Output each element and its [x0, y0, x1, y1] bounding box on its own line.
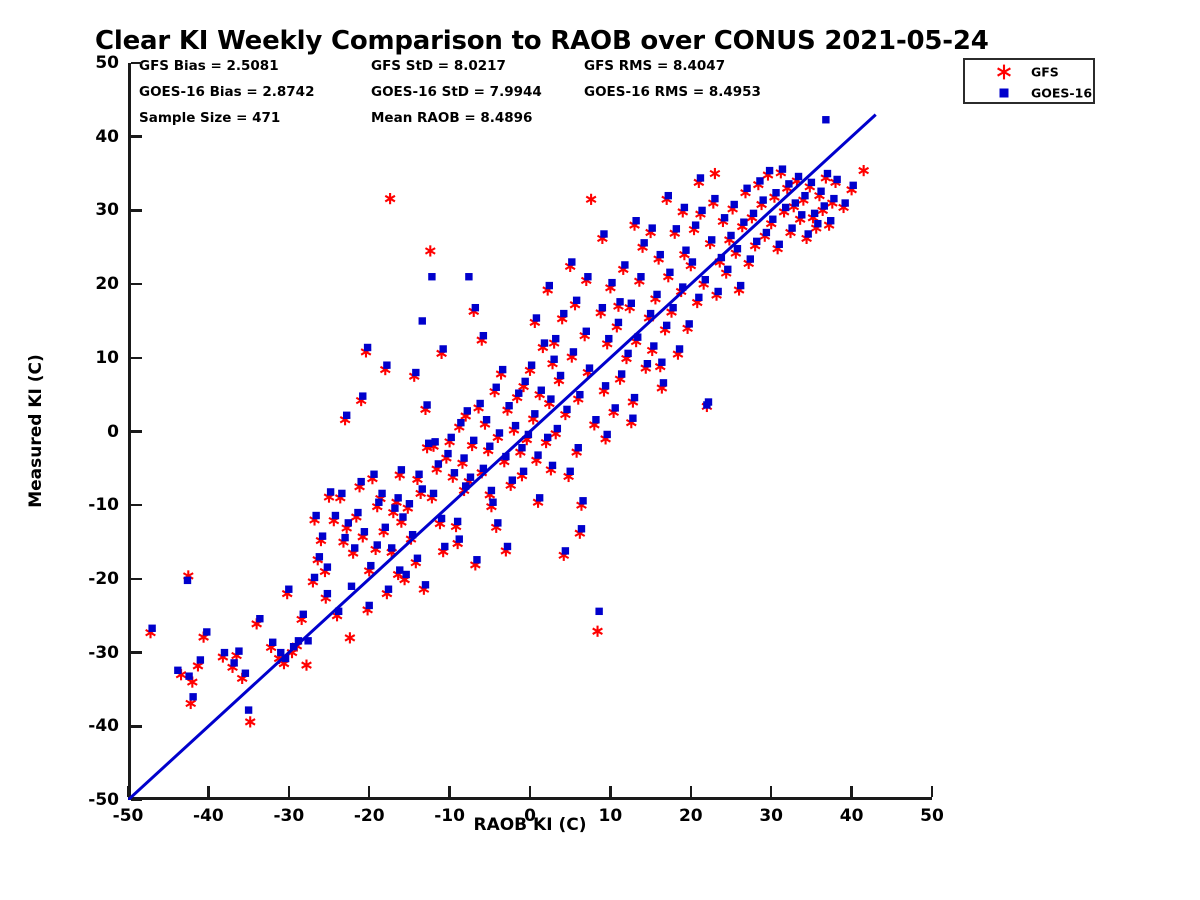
goes16-marker	[525, 431, 532, 438]
goes16-marker	[285, 586, 292, 593]
goes16-marker	[695, 294, 702, 301]
goes16-marker	[1000, 88, 1009, 97]
goes16-marker	[470, 437, 477, 444]
goes16-marker	[430, 490, 437, 497]
goes16-marker	[366, 602, 373, 609]
x-axis-tick-label: -10	[434, 806, 465, 826]
goes16-marker	[221, 649, 228, 656]
goes16-marker	[533, 314, 540, 321]
goes16-marker	[399, 513, 406, 520]
gfs-marker	[385, 193, 395, 204]
y-axis-tick	[131, 725, 142, 728]
goes16-marker	[398, 466, 405, 473]
goes16-marker	[335, 608, 342, 615]
goes16-marker	[804, 230, 811, 237]
goes16-marker	[685, 320, 692, 327]
goes16-marker	[624, 350, 631, 357]
x-axis-tick	[609, 786, 612, 797]
goes16-marker	[348, 583, 355, 590]
gfs-marker	[710, 168, 720, 179]
goes16-marker	[515, 389, 522, 396]
goes16-marker	[676, 345, 683, 352]
goes16-marker	[509, 476, 516, 483]
goes16-marker	[438, 515, 445, 522]
goes16-marker	[457, 419, 464, 426]
y-axis-tick-label: -10	[88, 495, 119, 515]
goes16-marker	[184, 577, 191, 584]
x-axis-tick-label: 10	[599, 806, 623, 826]
goes16-marker	[798, 211, 805, 218]
x-axis-tick	[207, 786, 210, 797]
goes16-marker	[657, 251, 664, 258]
goes16-marker	[612, 404, 619, 411]
goes16-marker	[663, 322, 670, 329]
goes16-marker	[512, 422, 519, 429]
goes16-marker	[343, 412, 350, 419]
goes16-marker	[583, 328, 590, 335]
goes16-marker	[718, 254, 725, 261]
y-axis-tick-label: 50	[95, 53, 119, 73]
goes16-marker	[489, 499, 496, 506]
goes16-marker	[518, 444, 525, 451]
goes16-marker	[414, 555, 421, 562]
legend-item: GOES-16	[965, 82, 1093, 103]
scatter-data-canvas	[128, 63, 932, 800]
goes16-marker	[499, 366, 506, 373]
goes16-marker	[357, 478, 364, 485]
plot-area: RAOB KI (C) Measured KI (C) -50-40-30-20…	[128, 63, 932, 800]
y-axis-tick	[131, 430, 142, 433]
goes16-marker	[431, 438, 438, 445]
goes16-marker	[354, 509, 361, 516]
goes16-marker	[567, 468, 574, 475]
goes16-marker	[586, 364, 593, 371]
goes16-marker	[592, 416, 599, 423]
goes16-marker	[658, 359, 665, 366]
goes16-marker	[235, 647, 242, 654]
goes16-marker	[782, 204, 789, 211]
goes16-marker	[595, 608, 602, 615]
goes16-marker	[269, 639, 276, 646]
goes16-marker	[385, 586, 392, 593]
goes16-marker	[304, 637, 311, 644]
goes16-marker	[698, 207, 705, 214]
goes16-marker	[795, 173, 802, 180]
goes16-marker	[467, 473, 474, 480]
y-axis-tick-label: 40	[95, 127, 119, 147]
goes16-marker	[772, 189, 779, 196]
goes16-marker	[435, 460, 442, 467]
goes16-marker	[174, 667, 181, 674]
goes16-marker	[311, 574, 318, 581]
y-axis-tick-label: 30	[95, 200, 119, 220]
goes16-marker	[341, 534, 348, 541]
goes16-marker	[822, 116, 829, 123]
goes16-marker	[575, 444, 582, 451]
goes16-marker	[361, 528, 368, 535]
goes16-marker	[576, 391, 583, 398]
goes16-marker	[616, 298, 623, 305]
goes16-marker	[579, 497, 586, 504]
goes16-marker	[689, 258, 696, 265]
goes16-marker	[197, 656, 204, 663]
goes16-marker	[402, 571, 409, 578]
goes16-marker	[584, 273, 591, 280]
goes16-marker	[312, 512, 319, 519]
goes16-marker	[528, 361, 535, 368]
goes16-marker	[568, 258, 575, 265]
goes16-marker	[632, 217, 639, 224]
gfs-marker	[345, 632, 355, 643]
goes16-marker	[504, 543, 511, 550]
goes16-marker	[521, 378, 528, 385]
goes16-marker	[394, 494, 401, 501]
goes16-marker	[230, 659, 237, 666]
x-axis-tick-label: -50	[113, 806, 144, 826]
goes16-marker	[666, 269, 673, 276]
goes16-marker	[327, 488, 334, 495]
x-axis-tick-label: 50	[920, 806, 944, 826]
goes16-marker	[383, 361, 390, 368]
y-axis-tick	[131, 209, 142, 212]
goes16-marker	[406, 500, 413, 507]
goes16-marker	[737, 282, 744, 289]
legend-item: GFS	[965, 61, 1093, 82]
gfs-marker	[425, 245, 435, 256]
goes16-marker	[378, 490, 385, 497]
goes16-marker	[653, 291, 660, 298]
goes16-marker	[541, 339, 548, 346]
x-axis-tick-label: 30	[759, 806, 783, 826]
x-axis-tick	[690, 786, 693, 797]
goes16-marker	[428, 273, 435, 280]
goes16-marker	[396, 566, 403, 573]
legend-label: GOES-16	[1031, 85, 1092, 100]
chart-root: Clear KI Weekly Comparison to RAOB over …	[0, 0, 1200, 900]
goes16-marker	[830, 195, 837, 202]
goes16-marker	[702, 276, 709, 283]
goes16-marker	[359, 392, 366, 399]
goes16-marker	[148, 625, 155, 632]
goes16-marker	[464, 407, 471, 414]
square-icon	[995, 84, 1013, 102]
y-axis-tick-label: -30	[88, 643, 119, 663]
goes16-marker	[282, 655, 289, 662]
y-axis-tick	[131, 651, 142, 654]
goes16-marker	[801, 192, 808, 199]
goes16-marker	[769, 216, 776, 223]
goes16-marker	[628, 300, 635, 307]
goes16-marker	[631, 394, 638, 401]
goes16-marker	[324, 563, 331, 570]
goes16-marker	[779, 165, 786, 172]
x-axis-tick	[770, 786, 773, 797]
x-axis-tick	[850, 786, 853, 797]
goes16-marker	[332, 512, 339, 519]
x-axis-tick	[529, 786, 532, 797]
goes16-marker	[345, 519, 352, 526]
goes16-marker	[456, 535, 463, 542]
goes16-marker	[557, 372, 564, 379]
goes16-marker	[681, 204, 688, 211]
y-axis-tick-label: -20	[88, 569, 119, 589]
goes16-marker	[367, 562, 374, 569]
goes16-marker	[731, 201, 738, 208]
gfs-marker	[302, 660, 312, 671]
goes16-marker	[480, 465, 487, 472]
x-axis-tick	[368, 786, 371, 797]
y-axis-tick-label: 20	[95, 274, 119, 294]
goes16-marker	[766, 167, 773, 174]
goes16-marker	[351, 544, 358, 551]
x-axis-tick-label: 40	[840, 806, 864, 826]
goes16-marker	[536, 494, 543, 501]
y-axis-tick	[131, 799, 142, 802]
goes16-marker	[673, 225, 680, 232]
goes16-marker	[605, 335, 612, 342]
goes16-marker	[808, 179, 815, 186]
goes16-marker	[531, 410, 538, 417]
goes16-marker	[573, 297, 580, 304]
y-axis-tick-label: 10	[95, 348, 119, 368]
goes16-marker	[493, 384, 500, 391]
goes16-marker	[549, 462, 556, 469]
goes16-marker	[338, 490, 345, 497]
x-axis-tick	[127, 786, 130, 797]
goes16-marker	[743, 185, 750, 192]
goes16-marker	[788, 224, 795, 231]
goes16-marker	[563, 406, 570, 413]
goes16-marker	[640, 239, 647, 246]
goes16-marker	[747, 255, 754, 262]
goes16-marker	[242, 670, 249, 677]
gfs-marker	[998, 64, 1011, 79]
goes16-marker	[448, 434, 455, 441]
goes16-marker	[245, 706, 252, 713]
x-axis-tick-label: -20	[354, 806, 385, 826]
gfs-marker	[245, 716, 255, 727]
goes16-marker	[546, 282, 553, 289]
goes16-marker	[618, 370, 625, 377]
goes16-marker	[647, 310, 654, 317]
goes16-marker	[480, 332, 487, 339]
y-axis-tick	[131, 62, 142, 65]
goes16-marker	[552, 335, 559, 342]
goes16-marker	[550, 356, 557, 363]
goes16-marker	[364, 344, 371, 351]
goes16-marker	[460, 454, 467, 461]
goes16-marker	[608, 279, 615, 286]
x-axis-tick	[448, 786, 451, 797]
goes16-marker	[824, 170, 831, 177]
goes16-marker	[750, 210, 757, 217]
goes16-marker	[734, 245, 741, 252]
gfs-series	[146, 165, 869, 727]
goes16-marker	[505, 402, 512, 409]
goes16-marker	[721, 214, 728, 221]
goes16-marker	[375, 499, 382, 506]
goes16-marker	[740, 218, 747, 225]
goes16-marker	[476, 400, 483, 407]
goes16-marker	[370, 471, 377, 478]
goes16-marker	[833, 176, 840, 183]
goes16-marker	[483, 416, 490, 423]
goes16-marker	[850, 182, 857, 189]
goes16-marker	[682, 247, 689, 254]
goes16-marker	[753, 238, 760, 245]
goes16-marker	[415, 471, 422, 478]
goes16-marker	[391, 504, 398, 511]
goes16-marker	[560, 310, 567, 317]
goes16-marker	[422, 581, 429, 588]
goes16-marker	[554, 425, 561, 432]
goes16-marker	[256, 615, 263, 622]
page-title: Clear KI Weekly Comparison to RAOB over …	[95, 26, 989, 56]
goes16-marker	[759, 196, 766, 203]
goes16-marker	[502, 453, 509, 460]
goes16-marker	[412, 369, 419, 376]
goes16-marker	[827, 217, 834, 224]
goes16-marker	[660, 379, 667, 386]
goes16-marker	[189, 693, 196, 700]
legend: GFSGOES-16	[963, 58, 1095, 104]
x-axis-tick-label: -30	[273, 806, 304, 826]
goes16-marker	[444, 450, 451, 457]
goes16-marker	[634, 333, 641, 340]
goes16-marker	[570, 348, 577, 355]
goes16-marker	[792, 199, 799, 206]
goes16-marker	[841, 199, 848, 206]
goes16-marker	[465, 273, 472, 280]
y-axis-tick	[131, 283, 142, 286]
goes16-marker	[629, 415, 636, 422]
goes16-marker	[669, 304, 676, 311]
goes16-marker	[316, 553, 323, 560]
goes16-marker	[703, 401, 710, 408]
x-axis-tick-label: -40	[193, 806, 224, 826]
goes16-marker	[665, 192, 672, 199]
goes16-marker	[494, 519, 501, 526]
goes16-marker	[603, 431, 610, 438]
goes16-marker	[454, 518, 461, 525]
goes16-marker	[462, 482, 469, 489]
goes16-marker	[382, 524, 389, 531]
goes16-marker	[423, 401, 430, 408]
goes16-marker	[472, 304, 479, 311]
y-axis-tick	[131, 504, 142, 507]
goes16-marker	[439, 345, 446, 352]
goes16-marker	[615, 319, 622, 326]
goes16-marker	[419, 317, 426, 324]
gfs-marker	[586, 194, 596, 205]
goes16-marker	[650, 342, 657, 349]
goes16-marker	[425, 440, 432, 447]
goes16-marker	[203, 628, 210, 635]
goes16-marker	[600, 230, 607, 237]
goes16-marker	[724, 266, 731, 273]
x-axis-tick-label: 0	[524, 806, 536, 826]
asterisk-icon	[995, 63, 1013, 81]
goes16-marker	[374, 541, 381, 548]
goes16-marker	[649, 224, 656, 231]
y-axis-tick-label: -40	[88, 716, 119, 736]
goes16-marker	[409, 531, 416, 538]
goes16-marker	[300, 611, 307, 618]
goes16-marker	[534, 451, 541, 458]
goes16-marker	[621, 261, 628, 268]
goes16-marker	[708, 236, 715, 243]
goes16-marker	[538, 387, 545, 394]
x-axis-tick	[931, 786, 934, 797]
x-axis-tick	[288, 786, 291, 797]
y-axis-tick-label: 0	[107, 422, 119, 442]
goes16-marker	[817, 188, 824, 195]
goes16-marker	[419, 485, 426, 492]
y-axis-tick	[131, 578, 142, 581]
goes16-marker	[547, 395, 554, 402]
x-axis-tick-label: 20	[679, 806, 703, 826]
goes16-marker	[711, 195, 718, 202]
goes16-marker	[388, 544, 395, 551]
goes16-marker	[679, 283, 686, 290]
goes16-marker	[776, 241, 783, 248]
goes16-marker	[811, 210, 818, 217]
one-to-one-line	[128, 115, 876, 800]
goes16-marker	[602, 382, 609, 389]
gfs-marker	[859, 165, 869, 176]
goes16-marker	[727, 232, 734, 239]
gfs-marker	[593, 626, 603, 637]
goes16-marker	[185, 672, 192, 679]
goes16-marker	[644, 360, 651, 367]
goes16-marker	[714, 288, 721, 295]
goes16-marker	[488, 487, 495, 494]
goes16-marker	[451, 469, 458, 476]
goes16-marker	[821, 202, 828, 209]
goes16-marker	[599, 304, 606, 311]
goes16-marker	[578, 525, 585, 532]
goes16-marker	[441, 543, 448, 550]
goes16-marker	[785, 180, 792, 187]
goes16-marker	[562, 547, 569, 554]
goes16-marker	[319, 532, 326, 539]
goes16-marker	[520, 468, 527, 475]
goes16-marker	[496, 429, 503, 436]
goes16-marker	[756, 177, 763, 184]
y-axis-tick	[131, 357, 142, 360]
goes16-marker	[697, 174, 704, 181]
goes16-marker	[763, 229, 770, 236]
goes16-marker	[473, 556, 480, 563]
goes16-marker	[544, 434, 551, 441]
goes16-marker	[324, 590, 331, 597]
y-axis-label: Measured KI (C)	[26, 354, 46, 508]
goes16-marker	[486, 443, 493, 450]
goes16-marker	[692, 221, 699, 228]
goes16-marker	[295, 637, 302, 644]
goes16-marker	[637, 273, 644, 280]
goes16-marker	[814, 220, 821, 227]
y-axis-tick	[131, 135, 142, 138]
legend-label: GFS	[1031, 64, 1059, 79]
